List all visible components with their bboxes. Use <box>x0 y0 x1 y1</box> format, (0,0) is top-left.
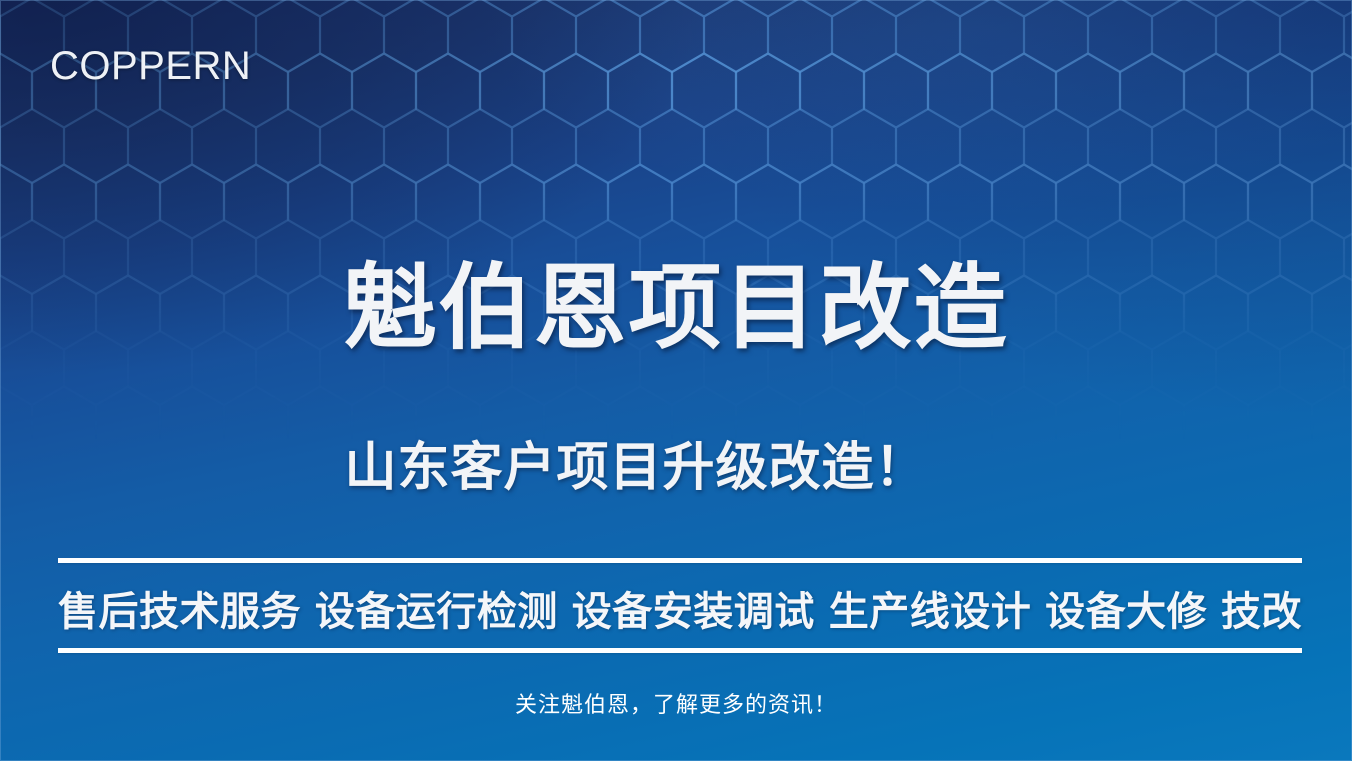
service-item: 技改 <box>1221 579 1302 637</box>
hexagon-glow-overlay <box>0 0 1352 761</box>
service-item: 设备运行检测 <box>315 579 558 637</box>
background-vignette <box>0 0 1352 761</box>
divider-top <box>58 558 1302 563</box>
brand-logo: COPPERN <box>50 44 251 89</box>
presentation-slide: COPPERN 魁伯恩项目改造 山东客户项目升级改造！ 售后技术服务 设备运行检… <box>0 0 1352 761</box>
page-title: 魁伯恩项目改造 <box>0 258 1352 358</box>
divider-bottom <box>58 648 1302 653</box>
service-item: 设备安装调试 <box>572 579 815 637</box>
service-item: 售后技术服务 <box>58 579 301 637</box>
hexagon-pattern-background <box>0 0 1352 761</box>
page-subtitle: 山东客户项目升级改造！ <box>0 439 1352 499</box>
slide-border <box>0 0 1352 761</box>
service-item: 生产线设计 <box>829 579 1032 637</box>
service-item: 设备大修 <box>1045 579 1207 637</box>
services-list: 售后技术服务 设备运行检测 设备安装调试 生产线设计 设备大修 技改 <box>58 573 1302 643</box>
footer-note: 关注魁伯恩，了解更多的资讯！ <box>0 687 1352 719</box>
